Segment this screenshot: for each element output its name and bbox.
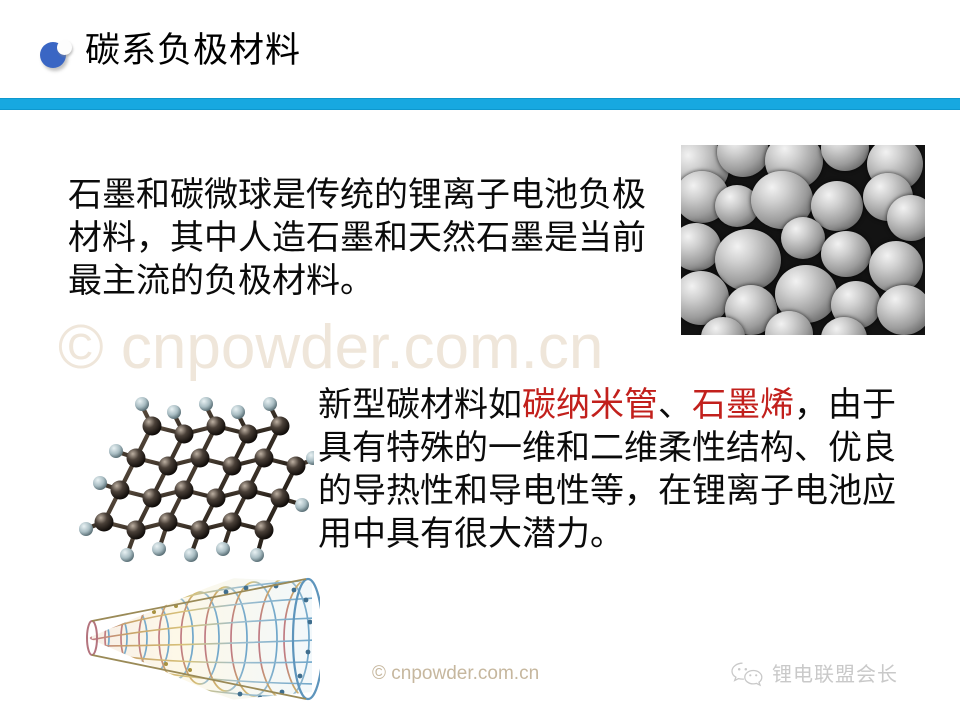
slide-header: 碳系负极材料 [0, 0, 960, 100]
bullet-highlight-dot [57, 40, 72, 55]
header-divider [0, 98, 960, 110]
paragraph-2-separator: 、 [658, 385, 692, 425]
highlight-carbon-nanotube: 碳纳米管 [522, 385, 658, 425]
slide-canvas: 碳系负极材料 © cnpowder.com.cn 石墨和碳微球是传统的锂离子电池… [0, 0, 960, 720]
carbon-nanotube-illustration [80, 560, 320, 715]
graphene-lattice-illustration [74, 372, 314, 570]
paragraph-graphite-intro: 石墨和碳微球是传统的锂离子电池负极材料，其中人造石墨和天然石墨是当前最主流的负极… [68, 174, 668, 303]
paragraph-2-prefix: 新型碳材料如 [318, 385, 522, 425]
page-title: 碳系负极材料 [85, 28, 301, 74]
nanotube-svg [80, 560, 320, 715]
blue-circle-bullet-icon [40, 40, 76, 70]
graphene-svg [74, 372, 314, 570]
wechat-brand: 锂电联盟会长 [730, 660, 898, 688]
paragraph-new-carbon-materials: 新型碳材料如碳纳米管、石墨烯，由于具有特殊的一维和二维柔性结构、优良的导热性和导… [318, 384, 918, 556]
wechat-icon [730, 661, 764, 687]
wechat-label: 锂电联盟会长 [772, 661, 898, 687]
footer-watermark: © cnpowder.com.cn [372, 662, 539, 686]
carbon-microspheres-sem-image [681, 145, 925, 335]
highlight-graphene: 石墨烯 [692, 385, 794, 425]
